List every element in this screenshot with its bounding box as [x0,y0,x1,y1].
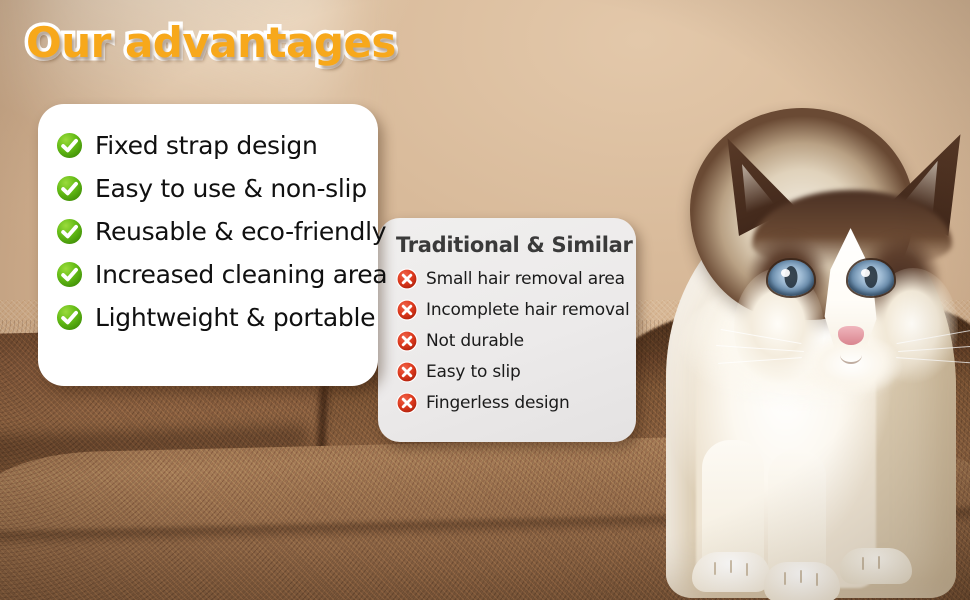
list-item-label: Fixed strap design [95,131,318,160]
list-item: Fixed strap design [38,124,378,167]
cat-paw-right [764,562,840,600]
list-item: Reusable & eco-friendly [38,210,378,253]
list-item-label: Not durable [426,331,524,351]
list-item-label: Lightweight & portable [95,303,375,332]
cat-eye-left [768,260,814,296]
comparison-card: Traditional & Similar Small hair removal… [378,218,636,442]
check-circle-icon [55,131,84,160]
list-item-label: Easy to use & non-slip [95,174,367,203]
comparison-list: Small hair removal area Incomplete hair … [378,261,636,418]
cat-paw-back [840,548,912,584]
x-circle-icon [396,330,418,352]
list-item: Small hair removal area [378,263,636,294]
x-circle-icon [396,268,418,290]
cat-mouth [840,346,862,364]
list-item: Increased cleaning area [38,253,378,296]
cat-eye-right [848,260,894,296]
cat-paw-left [692,552,770,592]
list-item-label: Small hair removal area [426,269,625,289]
check-circle-icon [55,174,84,203]
product-advantages-banner: Our advantages Traditional & Similar Sma… [0,0,970,600]
list-item-label: Incomplete hair removal [426,300,630,320]
page-title: Our advantages [26,18,396,67]
list-item-label: Easy to slip [426,362,521,382]
x-circle-icon [396,299,418,321]
list-item: Easy to use & non-slip [38,167,378,210]
list-item-label: Increased cleaning area [95,260,387,289]
x-circle-icon [396,361,418,383]
cat-head [690,108,914,320]
list-item: Lightweight & portable [38,296,378,339]
check-circle-icon [55,260,84,289]
list-item-label: Reusable & eco-friendly [95,217,386,246]
list-item: Fingerless design [378,387,636,418]
ragdoll-cat [640,20,970,600]
check-circle-icon [55,217,84,246]
advantages-card: Fixed strap design Easy to use & non-sli… [38,104,378,386]
check-circle-icon [55,303,84,332]
x-circle-icon [396,392,418,414]
list-item: Incomplete hair removal [378,294,636,325]
comparison-card-heading: Traditional & Similar [378,218,636,261]
list-item-label: Fingerless design [426,393,570,413]
list-item: Not durable [378,325,636,356]
advantages-list: Fixed strap design Easy to use & non-sli… [38,104,378,339]
list-item: Easy to slip [378,356,636,387]
